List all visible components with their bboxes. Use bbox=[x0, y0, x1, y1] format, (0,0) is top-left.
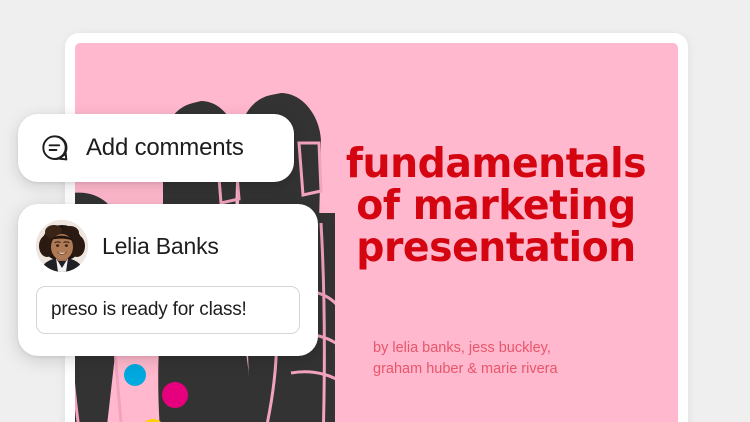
comment-bubble-icon bbox=[40, 133, 70, 163]
comment-input-value: preso is ready for class! bbox=[51, 299, 247, 321]
add-comments-label: Add comments bbox=[86, 134, 244, 162]
comment-author-name: Lelia Banks bbox=[102, 233, 219, 260]
comment-card[interactable]: Lelia Banks preso is ready for class! bbox=[18, 204, 318, 356]
avatar bbox=[36, 220, 88, 272]
slide-title[interactable]: fundamentals of marketing presentation bbox=[328, 143, 664, 268]
add-comments-button[interactable]: Add comments bbox=[18, 114, 294, 182]
slide-byline[interactable]: by lelia banks, jess buckley, graham hub… bbox=[321, 338, 651, 380]
app-canvas: fundamentals of marketing presentation b… bbox=[0, 0, 750, 422]
comment-author-row: Lelia Banks bbox=[36, 220, 300, 272]
comment-input[interactable]: preso is ready for class! bbox=[36, 286, 300, 334]
